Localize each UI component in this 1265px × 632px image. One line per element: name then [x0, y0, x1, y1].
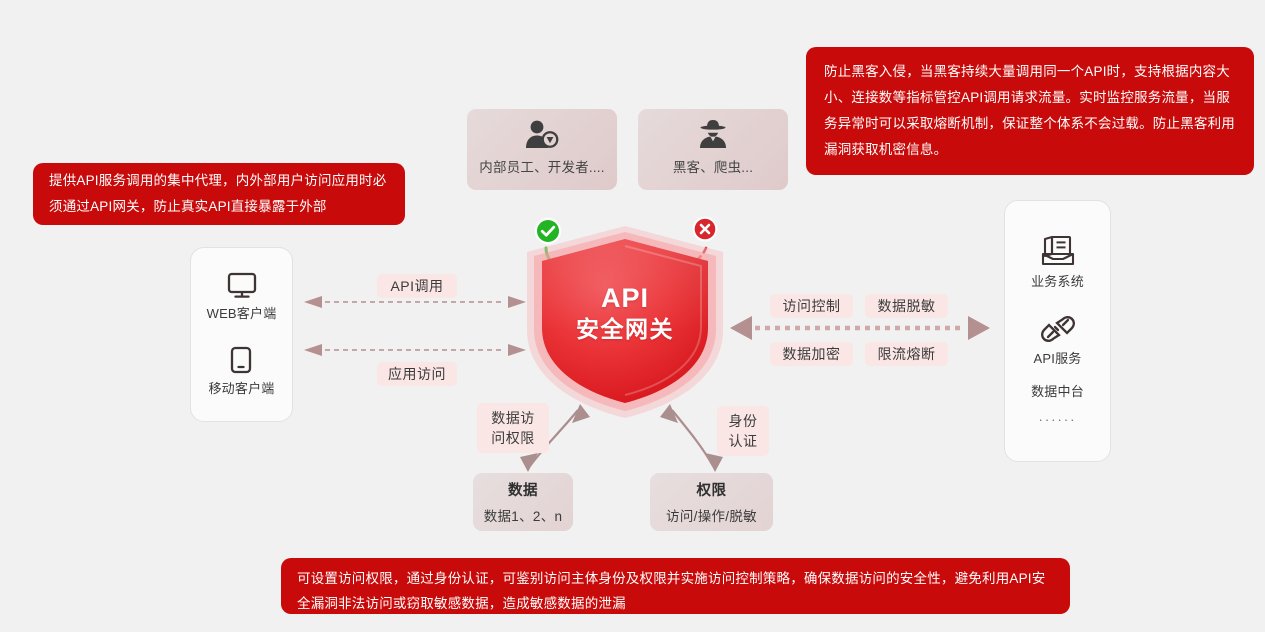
panel-item-business-system[interactable]: 业务系统 [1031, 235, 1084, 290]
deny-cross-badge [692, 216, 718, 242]
data-card-data[interactable]: 数据 数据1、2、n [473, 473, 573, 531]
backend-services-panel: 业务系统 API服务 数据中台 ······ [1004, 200, 1111, 462]
panel-extra-label: 数据中台 [1031, 381, 1084, 400]
actor-card-hackers[interactable]: 黑客、爬虫... [638, 109, 788, 190]
actor-label: 黑客、爬虫... [673, 156, 753, 176]
desktop-monitor-icon [227, 272, 257, 299]
arrow-gateway-backend [730, 316, 990, 340]
feature-tag-data-masking: 数据脱敏 [865, 294, 948, 318]
panel-item-label: WEB客户端 [207, 303, 277, 322]
panel-item-mobile-client[interactable]: 移动客户端 [208, 346, 274, 397]
api-connector-icon [1041, 314, 1075, 344]
panel-item-web-client[interactable]: WEB客户端 [207, 272, 277, 322]
policy-tag-line2: 问权限 [491, 428, 535, 448]
feature-tag-access-control: 访问控制 [770, 294, 853, 318]
policy-tag-data-permission: 数据访 问权限 [477, 403, 549, 453]
callout-bottom-access-policy: 可设置访问权限，通过身份认证，可鉴别访问主体身份及权限并实施访问控制策略，确保数… [281, 558, 1070, 614]
data-card-title: 权限 [697, 479, 727, 500]
hacker-spy-icon [696, 119, 730, 149]
callout-left-gateway-proxy: 提供API服务调用的集中代理，内外部用户访问应用时必须通过API网关，防止真实A… [33, 163, 405, 225]
data-card-title: 数据 [508, 479, 538, 500]
flow-label-app-access: 应用访问 [377, 362, 457, 386]
panel-item-label: API服务 [1034, 348, 1082, 367]
policy-tag-line2: 认证 [729, 431, 758, 451]
data-card-subtitle: 访问/操作/脱敏 [666, 505, 757, 525]
panel-item-api-service[interactable]: API服务 [1034, 314, 1082, 367]
policy-tag-line1: 数据访 [491, 408, 535, 428]
diagram-canvas: API 安全网关 内部员工、开发者.... [0, 0, 1265, 632]
flow-label-api-call: API调用 [377, 274, 457, 298]
feature-tag-data-encryption: 数据加密 [770, 342, 853, 366]
mobile-phone-icon [229, 346, 253, 374]
api-security-gateway-shield: API 安全网关 [519, 222, 731, 422]
callout-right-hacker-protection: 防止黑客入侵，当黑客持续大量调用同一个API时，支持根据内容大小、连接数等指标管… [806, 47, 1254, 175]
panel-ellipsis: ······ [1039, 412, 1077, 427]
data-card-permission[interactable]: 权限 访问/操作/脱敏 [650, 473, 773, 531]
data-card-subtitle: 数据1、2、n [484, 505, 563, 525]
business-system-icon [1040, 235, 1076, 267]
panel-item-label: 业务系统 [1031, 271, 1084, 290]
allow-check-badge [534, 217, 562, 245]
user-verified-icon [524, 119, 560, 149]
arrow-app-access [304, 344, 526, 356]
actor-label: 内部员工、开发者.... [479, 156, 604, 176]
actor-card-internal-users[interactable]: 内部员工、开发者.... [467, 109, 617, 190]
panel-item-label: 移动客户端 [208, 378, 274, 397]
policy-tag-line1: 身份 [729, 411, 758, 431]
client-devices-panel: WEB客户端 移动客户端 [190, 247, 293, 422]
policy-tag-identity-auth: 身份 认证 [717, 406, 769, 456]
feature-tag-rate-limit-fuse: 限流熔断 [865, 342, 948, 366]
